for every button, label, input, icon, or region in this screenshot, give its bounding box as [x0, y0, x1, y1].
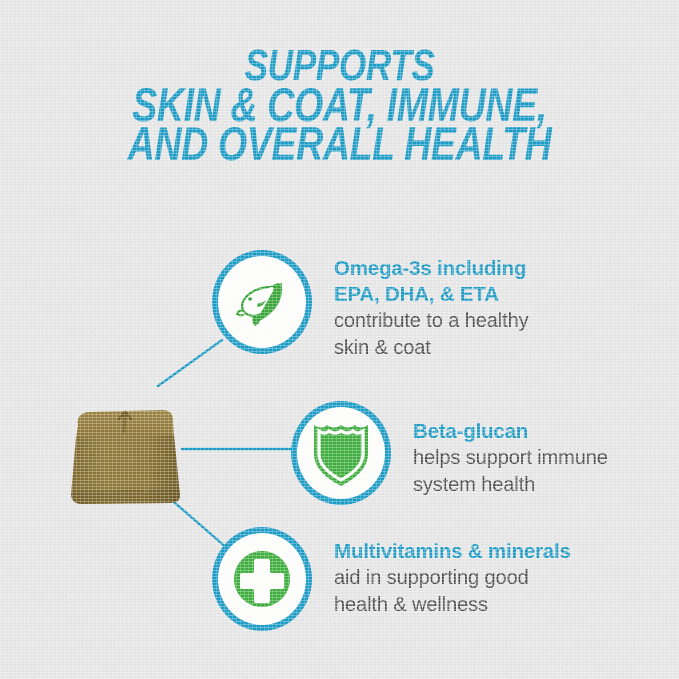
- product-chew-image: [62, 399, 187, 509]
- shield-icon: [291, 401, 391, 505]
- benefit-item-omega3: Omega-3s including EPA, DHA, & ETA contr…: [212, 250, 529, 362]
- benefit-item-betaglucan: Beta-glucan helps support immune system …: [291, 401, 608, 505]
- betaglucan-body-line-2: system health: [413, 472, 608, 499]
- medical-cross-icon: [212, 527, 312, 631]
- omega3-badge: [212, 250, 312, 354]
- multivitamins-body-line-2: health & wellness: [334, 592, 571, 619]
- betaglucan-title: Beta-glucan: [413, 419, 608, 445]
- multivitamins-title: Multivitamins & minerals: [334, 539, 571, 565]
- betaglucan-badge: [291, 401, 391, 505]
- betaglucan-body-line-1: helps support immune: [413, 445, 608, 472]
- omega3-title-line-2: EPA, DHA, & ETA: [334, 282, 529, 308]
- fish-icon: [212, 250, 312, 354]
- omega3-text-block: Omega-3s including EPA, DHA, & ETA contr…: [312, 250, 529, 362]
- multivitamins-badge: [212, 527, 312, 631]
- headline-line-3: AND OVERALL HEALTH: [68, 124, 611, 163]
- benefit-item-multivitamins: Multivitamins & minerals aid in supporti…: [212, 527, 571, 631]
- omega3-title-line-1: Omega-3s including: [334, 256, 529, 282]
- multivitamins-body-line-1: aid in supporting good: [334, 565, 571, 592]
- page-title: SUPPORTS SKIN & COAT, IMMUNE, AND OVERAL…: [0, 46, 679, 163]
- multivitamins-text-block: Multivitamins & minerals aid in supporti…: [312, 527, 571, 619]
- omega3-body-line-1: contribute to a healthy: [334, 308, 529, 335]
- omega3-body-line-2: skin & coat: [334, 335, 529, 362]
- betaglucan-text-block: Beta-glucan helps support immune system …: [391, 401, 608, 499]
